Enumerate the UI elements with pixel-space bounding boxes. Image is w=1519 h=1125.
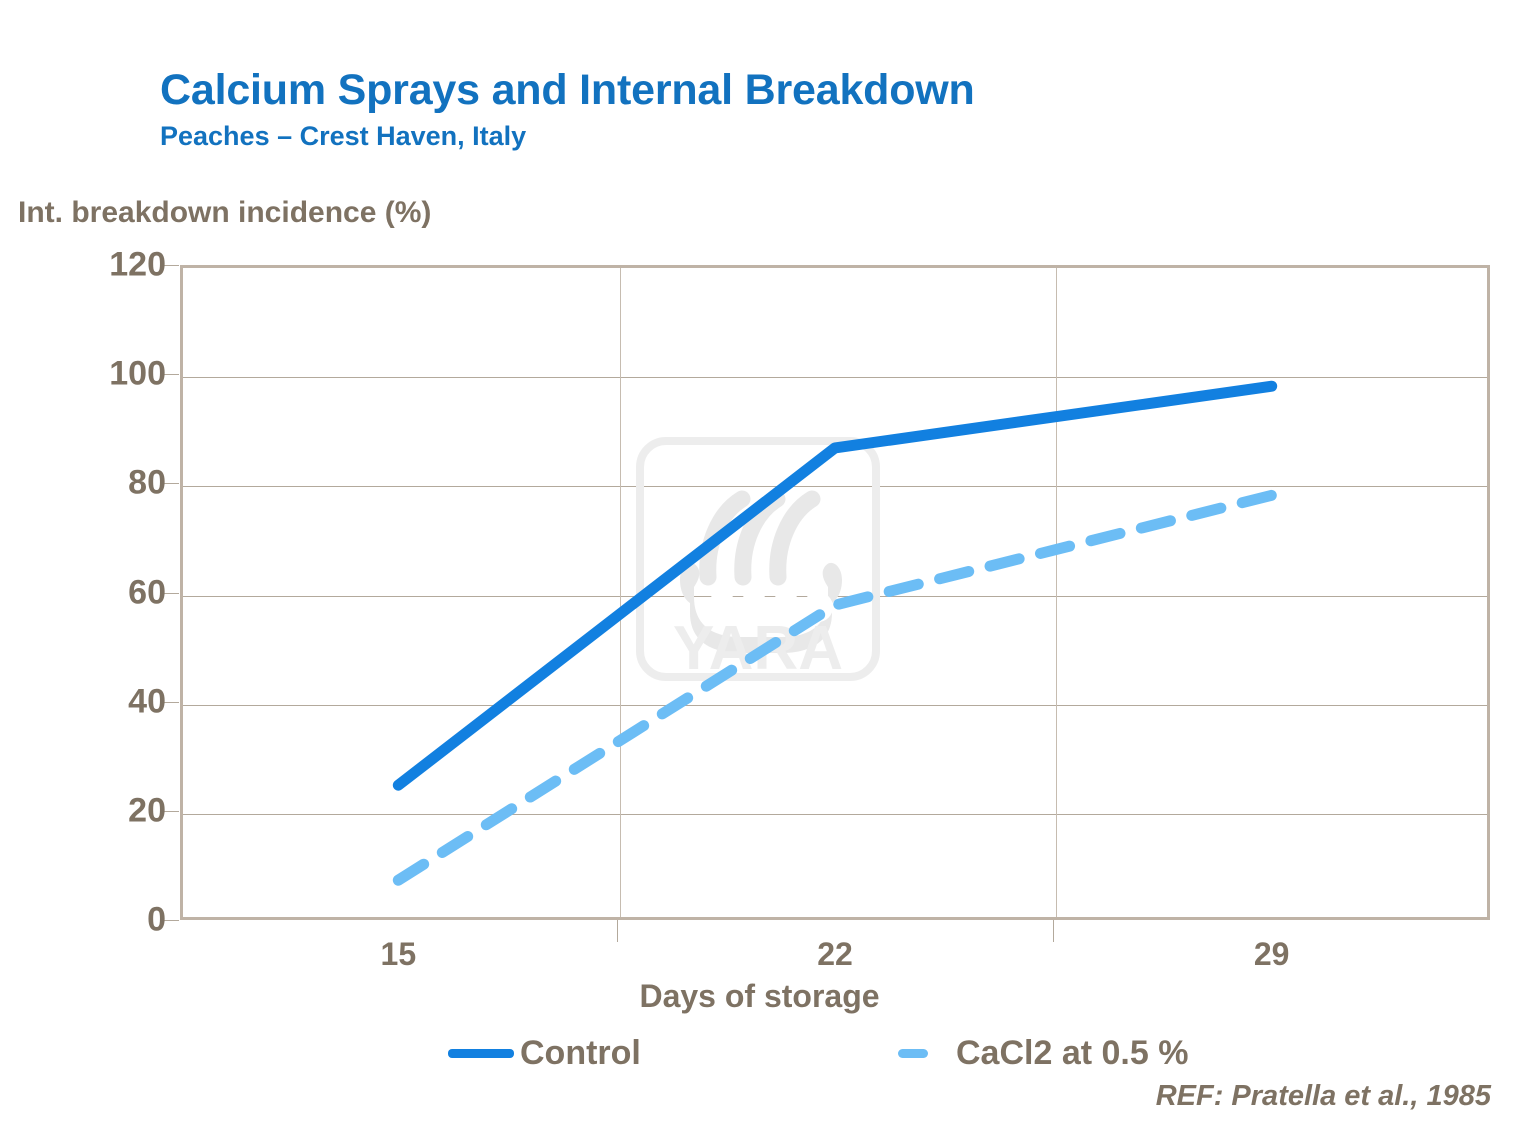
y-tick-label: 40: [16, 682, 166, 721]
x-axis-title: Days of storage: [0, 978, 1519, 1015]
y-tick-label: 100: [16, 355, 166, 394]
x-tick-label: 15: [381, 936, 417, 973]
plot-wrapper: YARA 020406080100120152229 Days of stora…: [0, 0, 1519, 1125]
chart-legend: Control CaCl2 at 0.5 %: [0, 1034, 1519, 1080]
x-tick-label: 22: [817, 936, 853, 973]
data-series-layer: [180, 265, 1490, 920]
reference-note: REF: Pratella et al., 1985: [1156, 1080, 1491, 1113]
chart-slide: Calcium Sprays and Internal Breakdown Pe…: [0, 0, 1519, 1125]
legend-item-control[interactable]: Control: [448, 1034, 641, 1073]
y-tick-label: 60: [16, 573, 166, 612]
x-tick-label: 29: [1254, 936, 1290, 973]
legend-item-cacl2[interactable]: CaCl2 at 0.5 %: [884, 1034, 1188, 1073]
x-tick-mark: [617, 920, 618, 942]
series-line-control: [398, 386, 1271, 785]
x-tick-mark: [1053, 920, 1054, 942]
legend-label-control: Control: [520, 1034, 641, 1073]
y-tick-label: 0: [16, 901, 166, 940]
y-tick-label: 80: [16, 464, 166, 503]
y-tick-label: 120: [16, 246, 166, 285]
y-tick-label: 20: [16, 791, 166, 830]
legend-label-cacl2: CaCl2 at 0.5 %: [956, 1034, 1188, 1073]
legend-swatch-control: [448, 1049, 514, 1058]
legend-swatch-cacl2: [884, 1049, 950, 1058]
